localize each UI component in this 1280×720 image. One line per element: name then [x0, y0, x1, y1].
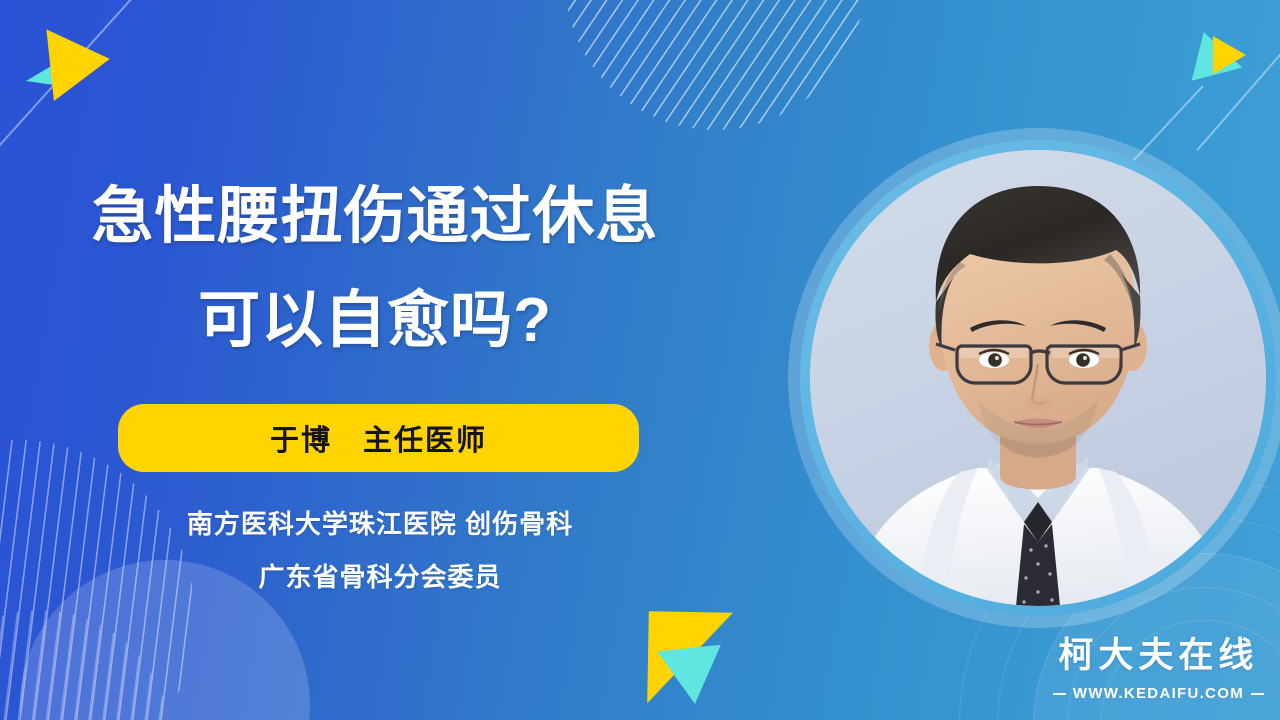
- triangle-top-left-cyan-icon: [26, 49, 70, 86]
- triangle-top-right-yellow-icon: [1213, 36, 1246, 74]
- triangle-top-left-yellow-icon: [46, 23, 113, 101]
- title-line-1: 急性腰扭伤通过休息: [0, 186, 750, 248]
- title-line-2: 可以自愈吗?: [0, 290, 750, 352]
- poster-title: 急性腰扭伤通过休息 可以自愈吗?: [0, 186, 750, 352]
- brand-logo-url-row: WWW.KEDAIFU.COM: [1053, 685, 1264, 702]
- brand-logo: 柯大夫在线 WWW.KEDAIFU.COM: [1053, 627, 1264, 702]
- brand-logo-name: 柯大夫在线: [1053, 627, 1264, 678]
- doctor-portrait: [810, 150, 1266, 606]
- striped-circle-top-icon: [565, 0, 865, 130]
- logo-dash-left-icon: [1053, 693, 1066, 695]
- triangle-bottom-center-cyan-icon: [657, 645, 727, 707]
- striped-circle-bottom-left-icon: [0, 610, 170, 720]
- diagonal-hairline-top-left: [0, 0, 189, 151]
- credential-line-2: 广东省骨科分会委员: [0, 557, 760, 594]
- diagonal-hairline-top-right: [1196, 0, 1280, 151]
- credential-line-1: 南方医科大学珠江医院 创伤骨科: [0, 504, 760, 541]
- brand-logo-url: WWW.KEDAIFU.COM: [1073, 685, 1244, 702]
- poster-canvas: 急性腰扭伤通过休息 可以自愈吗? 于博 主任医师 南方医科大学珠江医院 创伤骨科…: [0, 0, 1280, 720]
- logo-dash-right-icon: [1251, 693, 1264, 695]
- doctor-name-badge: 于博 主任医师: [118, 404, 639, 472]
- doctor-credentials: 南方医科大学珠江医院 创伤骨科 广东省骨科分会委员: [0, 504, 760, 594]
- triangle-top-right-cyan-icon: [1192, 32, 1249, 92]
- doctor-name-badge-label: 于博 主任医师: [270, 417, 487, 459]
- triangle-bottom-center-yellow-icon: [647, 611, 733, 704]
